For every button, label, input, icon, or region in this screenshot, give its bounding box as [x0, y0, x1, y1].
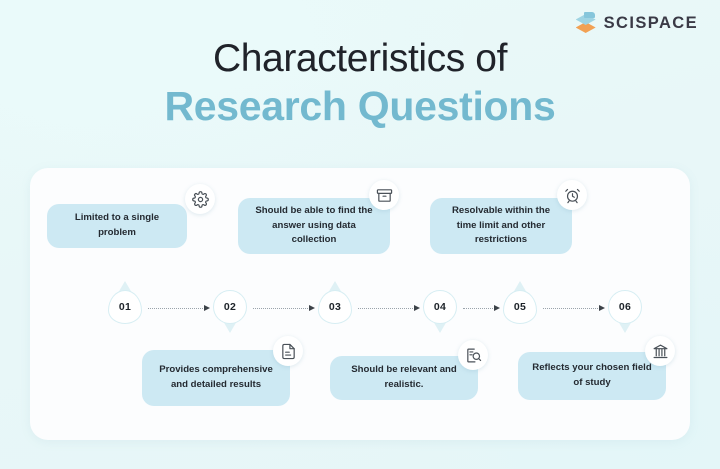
institution-building-icon	[645, 336, 675, 366]
report-document-icon	[273, 336, 303, 366]
brand-name: SCISPACE	[604, 14, 698, 33]
content-panel: Limited to a single problem Should be ab…	[30, 168, 690, 440]
step-card-04-text: Provides comprehensive and detailed resu…	[154, 363, 278, 393]
step-card-04: Provides comprehensive and detailed resu…	[142, 350, 290, 406]
gear-icon	[185, 184, 215, 214]
page-title: Characteristics of Research Questions	[0, 38, 720, 129]
timeline-node-06: 06	[608, 290, 642, 324]
page-title-line-1: Characteristics of	[0, 38, 720, 79]
timeline-connector-2	[253, 305, 315, 311]
timeline-node-05-number: 05	[503, 290, 537, 324]
timeline: 01 02 03 04	[30, 282, 690, 332]
alarm-clock-icon	[557, 180, 587, 210]
step-card-05-text: Should be relevant and realistic.	[342, 363, 466, 393]
step-card-06-text: Reflects your chosen field of study	[530, 361, 654, 391]
document-search-icon	[458, 340, 488, 370]
timeline-node-05: 05	[503, 290, 537, 324]
step-card-03: Resolvable within the time limit and oth…	[430, 198, 572, 254]
timeline-node-04: 04	[423, 290, 457, 324]
timeline-connector-1	[148, 305, 210, 311]
database-archive-icon	[369, 180, 399, 210]
step-card-02: Should be able to find the answer using …	[238, 198, 390, 254]
page-title-line-2: Research Questions	[0, 85, 720, 128]
step-card-01: Limited to a single problem	[47, 204, 187, 248]
step-card-03-text: Resolvable within the time limit and oth…	[442, 204, 560, 249]
step-card-01-text: Limited to a single problem	[59, 211, 175, 241]
timeline-node-01: 01	[108, 290, 142, 324]
timeline-node-04-number: 04	[423, 290, 457, 324]
timeline-node-06-number: 06	[608, 290, 642, 324]
timeline-node-03: 03	[318, 290, 352, 324]
step-card-06: Reflects your chosen field of study	[518, 352, 666, 400]
step-card-05: Should be relevant and realistic.	[330, 356, 478, 400]
timeline-node-02: 02	[213, 290, 247, 324]
timeline-node-03-number: 03	[318, 290, 352, 324]
timeline-node-02-number: 02	[213, 290, 247, 324]
step-card-02-text: Should be able to find the answer using …	[250, 204, 378, 249]
timeline-node-01-number: 01	[108, 290, 142, 324]
timeline-connector-3	[358, 305, 420, 311]
brand-logo: SCISPACE	[575, 12, 698, 34]
timeline-connector-4	[463, 305, 500, 311]
infographic-page: SCISPACE Characteristics of Research Que…	[0, 0, 720, 469]
scispace-stack-logo-icon	[575, 12, 597, 34]
timeline-connector-5	[543, 305, 605, 311]
